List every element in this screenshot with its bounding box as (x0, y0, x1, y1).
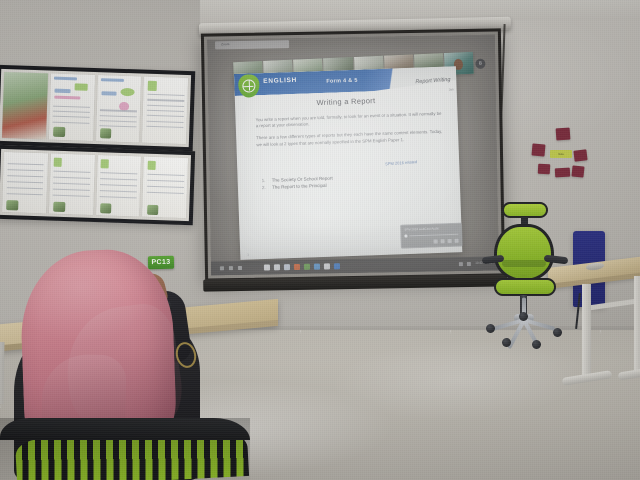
sticky-note-center-text: Nota (558, 153, 563, 156)
chair-caster (502, 338, 511, 347)
notice-sheet (2, 152, 48, 213)
chair-headrest (502, 202, 548, 218)
notice-sheet (49, 74, 95, 141)
taskview-icon[interactable] (238, 266, 242, 270)
globe-icon (242, 79, 255, 92)
slide-corner-label: Jan (449, 87, 454, 91)
app-icon[interactable] (264, 264, 270, 270)
app-icon[interactable] (304, 264, 310, 270)
projection-surface: Zoom 8 (207, 35, 499, 276)
app-icon[interactable] (284, 264, 290, 270)
topic-label: Report Writing (415, 77, 450, 85)
slide-paragraph: You write a report when you are told, fo… (255, 111, 441, 130)
list-item: 2. The Report to the Principal (262, 182, 333, 191)
media-control-panel[interactable]: SPM 2016 webCast Audio (400, 223, 463, 249)
media-buttons[interactable] (405, 239, 459, 245)
search-icon[interactable] (229, 266, 233, 270)
app-icon[interactable] (294, 264, 300, 270)
sticky-note (555, 168, 570, 178)
notice-sheet (96, 155, 142, 216)
media-button[interactable] (455, 239, 459, 243)
media-button[interactable] (448, 239, 452, 243)
slide-title: Writing a Report (235, 93, 457, 110)
list-text: The Report to the Principal (272, 182, 327, 191)
classroom-photo: Nota Zoom (0, 0, 640, 480)
poster (2, 72, 48, 139)
slide-body: You write a report when you are told, fo… (255, 111, 442, 154)
window-titlebar[interactable]: Zoom (215, 40, 289, 49)
projector-screen[interactable]: Zoom 8 (201, 28, 505, 281)
app-icon[interactable] (324, 263, 330, 269)
sticky-note-center-label: Nota (550, 150, 572, 158)
sticky-note (538, 164, 551, 175)
noticeboard-lower (0, 145, 195, 226)
green-office-chair (476, 200, 572, 348)
slide-side-note: SPM 2016 related (385, 159, 417, 166)
sticky-note (571, 165, 584, 177)
media-button[interactable] (434, 239, 438, 243)
notice-sheet (142, 157, 188, 218)
chair-caster (519, 312, 528, 321)
chair-caster (486, 324, 495, 333)
chair-backrest (494, 224, 554, 282)
notice-sheet (142, 77, 188, 144)
sticky-note-cluster: Nota (528, 128, 592, 180)
window-title: Zoom (215, 40, 289, 46)
media-title: SPM 2016 webCast Audio (404, 226, 458, 232)
app-icon[interactable] (334, 263, 340, 269)
slide-paragraph: There are a few different types of repor… (256, 129, 442, 148)
app-icon[interactable] (274, 264, 280, 270)
form-label: Form 4 & 5 (326, 78, 358, 85)
notice-sheet (49, 154, 95, 215)
sticky-note (573, 149, 587, 162)
chair-seat (494, 278, 556, 296)
taskbar-quicklaunch[interactable] (220, 266, 242, 270)
chair-rim (0, 418, 250, 440)
taskbar-apps[interactable] (264, 263, 340, 270)
chair-caster (532, 340, 541, 349)
list-number: 2. (262, 184, 267, 191)
notice-sheet (95, 75, 141, 142)
noticeboard-upper (0, 65, 195, 152)
media-seek-bar[interactable] (404, 233, 458, 238)
slide-list: 1. The Society Or School Report 2. The R… (262, 175, 333, 191)
media-button[interactable] (441, 239, 445, 243)
sticky-note (556, 128, 571, 141)
tray-icon[interactable] (459, 262, 463, 266)
foreground-chair (0, 418, 250, 480)
tray-icon[interactable] (467, 262, 471, 266)
app-icon[interactable] (314, 264, 320, 270)
slide-page-number: 1 (247, 253, 249, 257)
sticky-note (532, 143, 546, 156)
media-seek-handle[interactable] (404, 235, 407, 238)
chair-caster (553, 328, 562, 337)
subject-label: ENGLISH (263, 77, 297, 85)
